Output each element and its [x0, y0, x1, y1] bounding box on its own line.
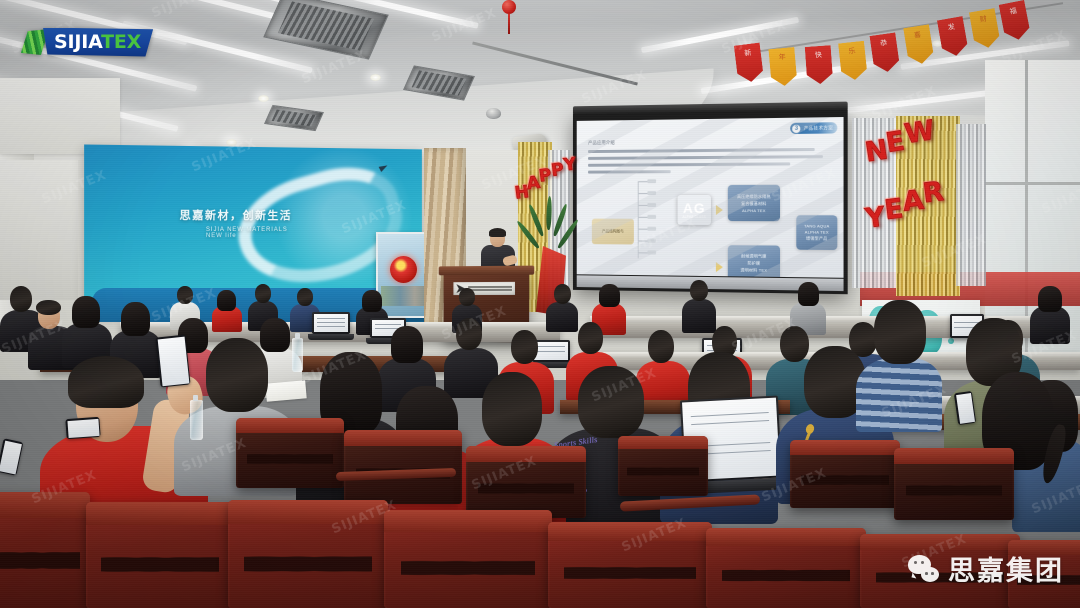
downlight [370, 74, 381, 81]
box-line: 防护膜 [747, 260, 760, 266]
flag-char: 财 [978, 14, 989, 24]
flag-char: 发 [946, 22, 957, 32]
audience-head [177, 286, 193, 304]
wall-panel [0, 78, 120, 154]
theater-chair [344, 430, 462, 504]
theater-chair [86, 502, 234, 608]
slide-flow-box: 耐候透明气膜 防护膜 透明材料 TEX [728, 245, 780, 278]
audience-hair [599, 284, 620, 307]
window-mullion [985, 182, 1080, 185]
downlight [258, 95, 269, 102]
poster-emblem [390, 256, 417, 283]
flag-char: 新 [742, 48, 753, 57]
projection-screen: 3 产品技术方案 产品应用介绍 [573, 110, 848, 294]
slide-arrow-icon [716, 205, 723, 215]
lectern-top [439, 266, 534, 276]
ceiling-dome-camera-icon [486, 108, 501, 119]
water-bottle [190, 400, 203, 440]
audience-torso [856, 358, 942, 432]
box-line: 高压绝缘防水隔热 [737, 193, 771, 199]
flag-char: 乐 [847, 47, 858, 56]
lantern-body [502, 0, 516, 14]
hanging-lantern [502, 0, 516, 34]
slide-note-line-1: 产品结构图与 [602, 229, 624, 234]
slide-note-box: 产品结构图与 [592, 219, 634, 245]
wechat-watermark: 思嘉集团 [908, 549, 1064, 588]
theater-chair [384, 510, 552, 608]
window-mullion [1025, 60, 1028, 360]
audience-hair [1038, 286, 1062, 312]
audience-head [578, 366, 644, 438]
smartphone [0, 438, 23, 475]
theater-chair [466, 446, 586, 518]
slide-badge-label: 产品技术方案 [804, 125, 834, 131]
banner-text-block: 思嘉新材，创新生活 SIJIA NEW MATERIALS NEW life [180, 207, 293, 239]
flag-char: 恭 [878, 38, 889, 47]
box-line: ALPHA TEX [742, 208, 766, 213]
box-line: 增强型产品 [806, 236, 828, 242]
slide-section-badge: 3 产品技术方案 [790, 122, 837, 134]
presenter-hair [489, 228, 506, 237]
wall-panel [0, 160, 78, 300]
slide-flow-box: 高压绝缘防水隔热 复合膜基材料 ALPHA TEX [728, 185, 780, 221]
wechat-icon [908, 555, 939, 582]
wechat-account-name: 思嘉集团 [948, 549, 1064, 588]
box-line: 耐候透明气膜 [741, 253, 766, 259]
audience-member [682, 280, 716, 332]
audience-member [856, 300, 944, 430]
logo-word-white: SIJIA [54, 31, 101, 53]
theater-chair [0, 492, 90, 608]
ag-logo-subtext: ALPHA GLASS [682, 214, 706, 218]
theater-chair [236, 418, 344, 488]
flag-char: 福 [1007, 6, 1018, 16]
banner-subline-2: NEW life [206, 233, 292, 239]
smartphone [65, 417, 100, 439]
audience-hair [36, 300, 61, 315]
sijiatex-logo: SIJIATEX [22, 27, 153, 57]
theater-chair [706, 528, 866, 608]
slide-title: 产品应用介绍 [588, 140, 615, 146]
tinsel-fringe [956, 124, 986, 286]
audience-head [482, 372, 542, 446]
theater-chair [790, 440, 900, 508]
slide-flow-box: TANG AQUA ALPHA TEX 增强型产品 [796, 215, 837, 250]
wechat-bubble-small [921, 567, 939, 582]
downlight [226, 139, 237, 146]
theater-chair [228, 500, 388, 608]
jet-icon [379, 163, 389, 172]
audience-hair [217, 290, 236, 311]
audience-head [297, 288, 313, 306]
flag-char: 喜 [912, 30, 923, 39]
audience-head [511, 330, 538, 364]
banner-headline: 思嘉新材，创新生活 [180, 207, 293, 223]
slide-badge-number: 3 [792, 124, 800, 132]
slide-arrow-icon [716, 262, 723, 272]
audience-head [874, 300, 926, 364]
photo-scene: 思嘉新材，创新生活 SIJIA NEW MATERIALS NEW life 3… [0, 0, 1080, 608]
audience-head [456, 318, 482, 350]
slide-tree-diagram [636, 177, 675, 263]
audience-head [578, 322, 603, 354]
ceiling-conduit [472, 41, 638, 85]
flag-char: 快 [813, 51, 824, 60]
box-line: ALPHA TEX [805, 229, 829, 234]
slide-canvas: 3 产品技术方案 产品应用介绍 [577, 117, 844, 278]
audience-head [206, 338, 268, 412]
audience-hair [72, 296, 100, 328]
ag-logo-text: AG [683, 202, 706, 215]
logo-word-green: TEX [101, 31, 141, 53]
audience-hair [362, 290, 382, 312]
theater-chair [548, 522, 712, 608]
sijiatex-logo-wordmark: SIJIATEX [43, 28, 153, 57]
audience-head [459, 288, 475, 306]
theater-chair [894, 448, 1014, 520]
box-line: 复合膜基材料 [741, 200, 766, 206]
laptop [312, 312, 350, 334]
theater-chair [618, 436, 708, 496]
audience-hair [121, 302, 150, 336]
slide-ag-logo: AG ALPHA GLASS [678, 195, 711, 225]
flag-char: 年 [777, 53, 788, 62]
ac-vent [263, 0, 389, 60]
lantern-tassel [508, 14, 510, 34]
box-line: TANG AQUA [804, 223, 829, 228]
audience-head [255, 284, 271, 303]
audience-head [690, 280, 708, 301]
presenter-arm [502, 254, 518, 266]
box-line: 透明材料 TEX [741, 267, 768, 273]
poster-photo-strip [381, 286, 429, 306]
audience-hair [798, 282, 819, 306]
audience-hair [68, 356, 144, 408]
audience-head [554, 284, 571, 304]
